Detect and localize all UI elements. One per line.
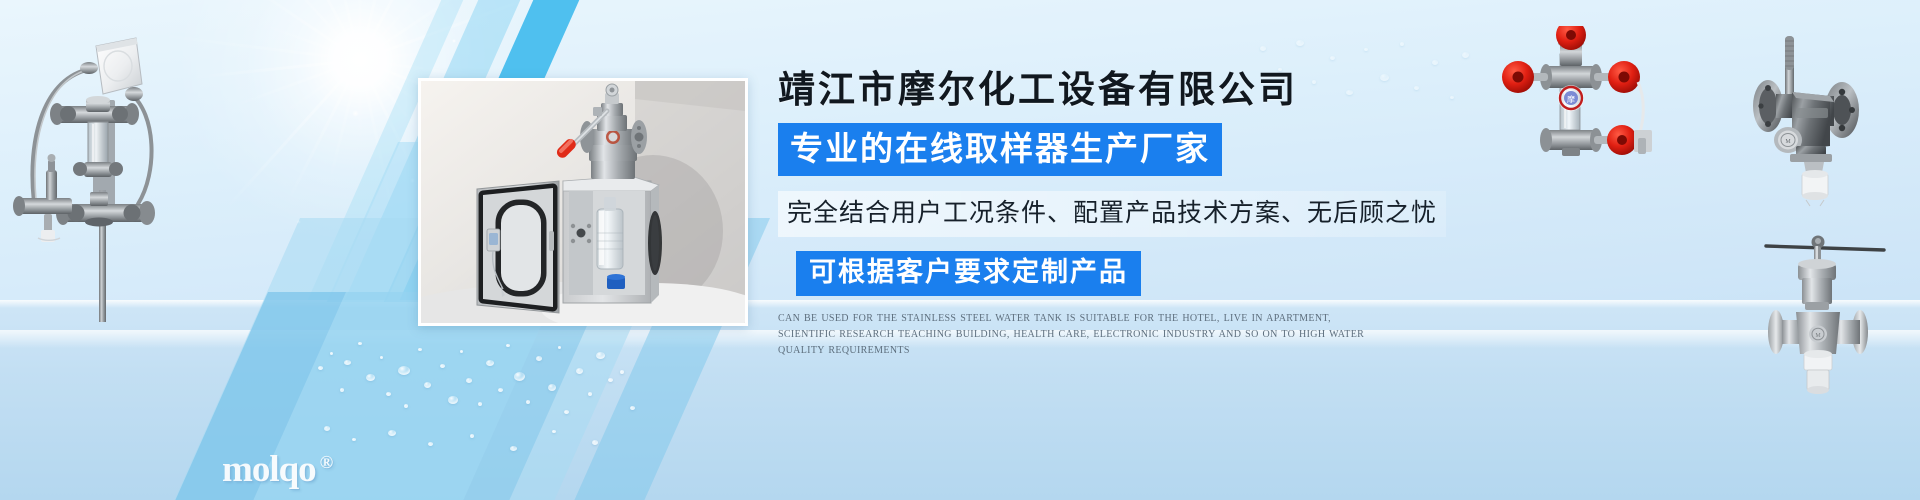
sun-sparkle: [352, 110, 359, 117]
water-droplet: [424, 382, 431, 388]
water-droplet: [608, 378, 613, 382]
water-droplet: [506, 344, 510, 347]
company-name: 靖江市摩尔化工设备有限公司: [778, 72, 1398, 109]
watermark-logo: molqo®: [222, 448, 333, 491]
water-droplet: [592, 440, 598, 445]
water-droplet: [358, 342, 362, 345]
watermark-text: molqo: [222, 449, 316, 490]
water-droplet: [1296, 40, 1304, 46]
water-droplet: [380, 356, 383, 359]
water-droplet: [498, 388, 503, 392]
water-droplet: [324, 426, 330, 431]
water-droplet: [386, 392, 391, 396]
water-droplet: [366, 374, 375, 381]
water-droplets-cluster: [300, 330, 640, 500]
sun-sparkle: [452, 39, 456, 43]
registered-trademark-icon: ®: [320, 452, 333, 472]
water-droplet: [1432, 60, 1438, 65]
water-droplet: [428, 442, 433, 446]
center-sampling-cabinet-photo: [418, 78, 748, 326]
water-droplet: [1414, 86, 1419, 90]
water-droplet: [596, 352, 605, 359]
water-droplet: [418, 348, 422, 351]
water-droplet: [466, 378, 472, 383]
water-droplet: [404, 404, 408, 408]
water-droplet: [340, 388, 344, 392]
left-sampler-on-pole: [8, 22, 178, 322]
water-droplet: [536, 356, 542, 361]
water-droplet: [344, 360, 351, 365]
cross-valve-assembly: 摩: [1488, 26, 1668, 156]
water-droplet: [1400, 42, 1404, 46]
water-droplet: [352, 438, 356, 441]
water-droplet: [564, 410, 569, 414]
water-droplet: [576, 368, 583, 374]
water-droplet: [478, 402, 482, 406]
svg-text:M: M: [1785, 139, 1791, 145]
water-droplet: [526, 400, 530, 404]
water-droplet: [588, 392, 592, 396]
water-droplet: [318, 366, 323, 370]
headline-primary-badge: 专业的在线取样器生产厂家: [778, 123, 1222, 176]
headline-secondary-badge: 可根据客户要求定制产品: [796, 251, 1141, 296]
water-droplet: [398, 366, 410, 375]
water-droplet: [1450, 96, 1454, 99]
water-droplet: [448, 396, 458, 404]
water-droplet: [620, 370, 624, 374]
svg-text:摩: 摩: [1567, 94, 1575, 104]
banner-copy-block: 靖江市摩尔化工设备有限公司 专业的在线取样器生产厂家 完全结合用户工况条件、配置…: [778, 72, 1398, 360]
lever-flanged-valve: M: [1700, 22, 1900, 212]
water-droplet: [460, 350, 463, 353]
water-droplet: [548, 384, 556, 391]
water-droplet: [510, 446, 517, 451]
water-droplet: [388, 430, 396, 436]
english-description: CAN BE USED FOR THE STAINLESS STEEL WATE…: [778, 311, 1378, 360]
water-droplet: [1330, 56, 1335, 60]
headline-sub: 完全结合用户工况条件、配置产品技术方案、无后顾之忧: [778, 191, 1446, 237]
water-droplet: [486, 360, 494, 366]
water-droplet: [514, 372, 525, 381]
water-droplet: [470, 434, 474, 438]
water-droplet: [1364, 48, 1368, 51]
marketing-banner: 靖江市摩尔化工设备有限公司 专业的在线取样器生产厂家 完全结合用户工况条件、配置…: [0, 0, 1920, 500]
water-droplet: [1462, 52, 1469, 58]
bottom-sampling-valve: M: [1758, 228, 1908, 398]
water-droplet: [440, 364, 445, 368]
water-droplet: [552, 430, 556, 433]
water-droplet: [330, 352, 333, 355]
water-droplet: [1260, 46, 1266, 51]
svg-text:M: M: [1815, 333, 1821, 339]
water-droplet: [558, 346, 561, 349]
water-droplet: [630, 406, 635, 410]
